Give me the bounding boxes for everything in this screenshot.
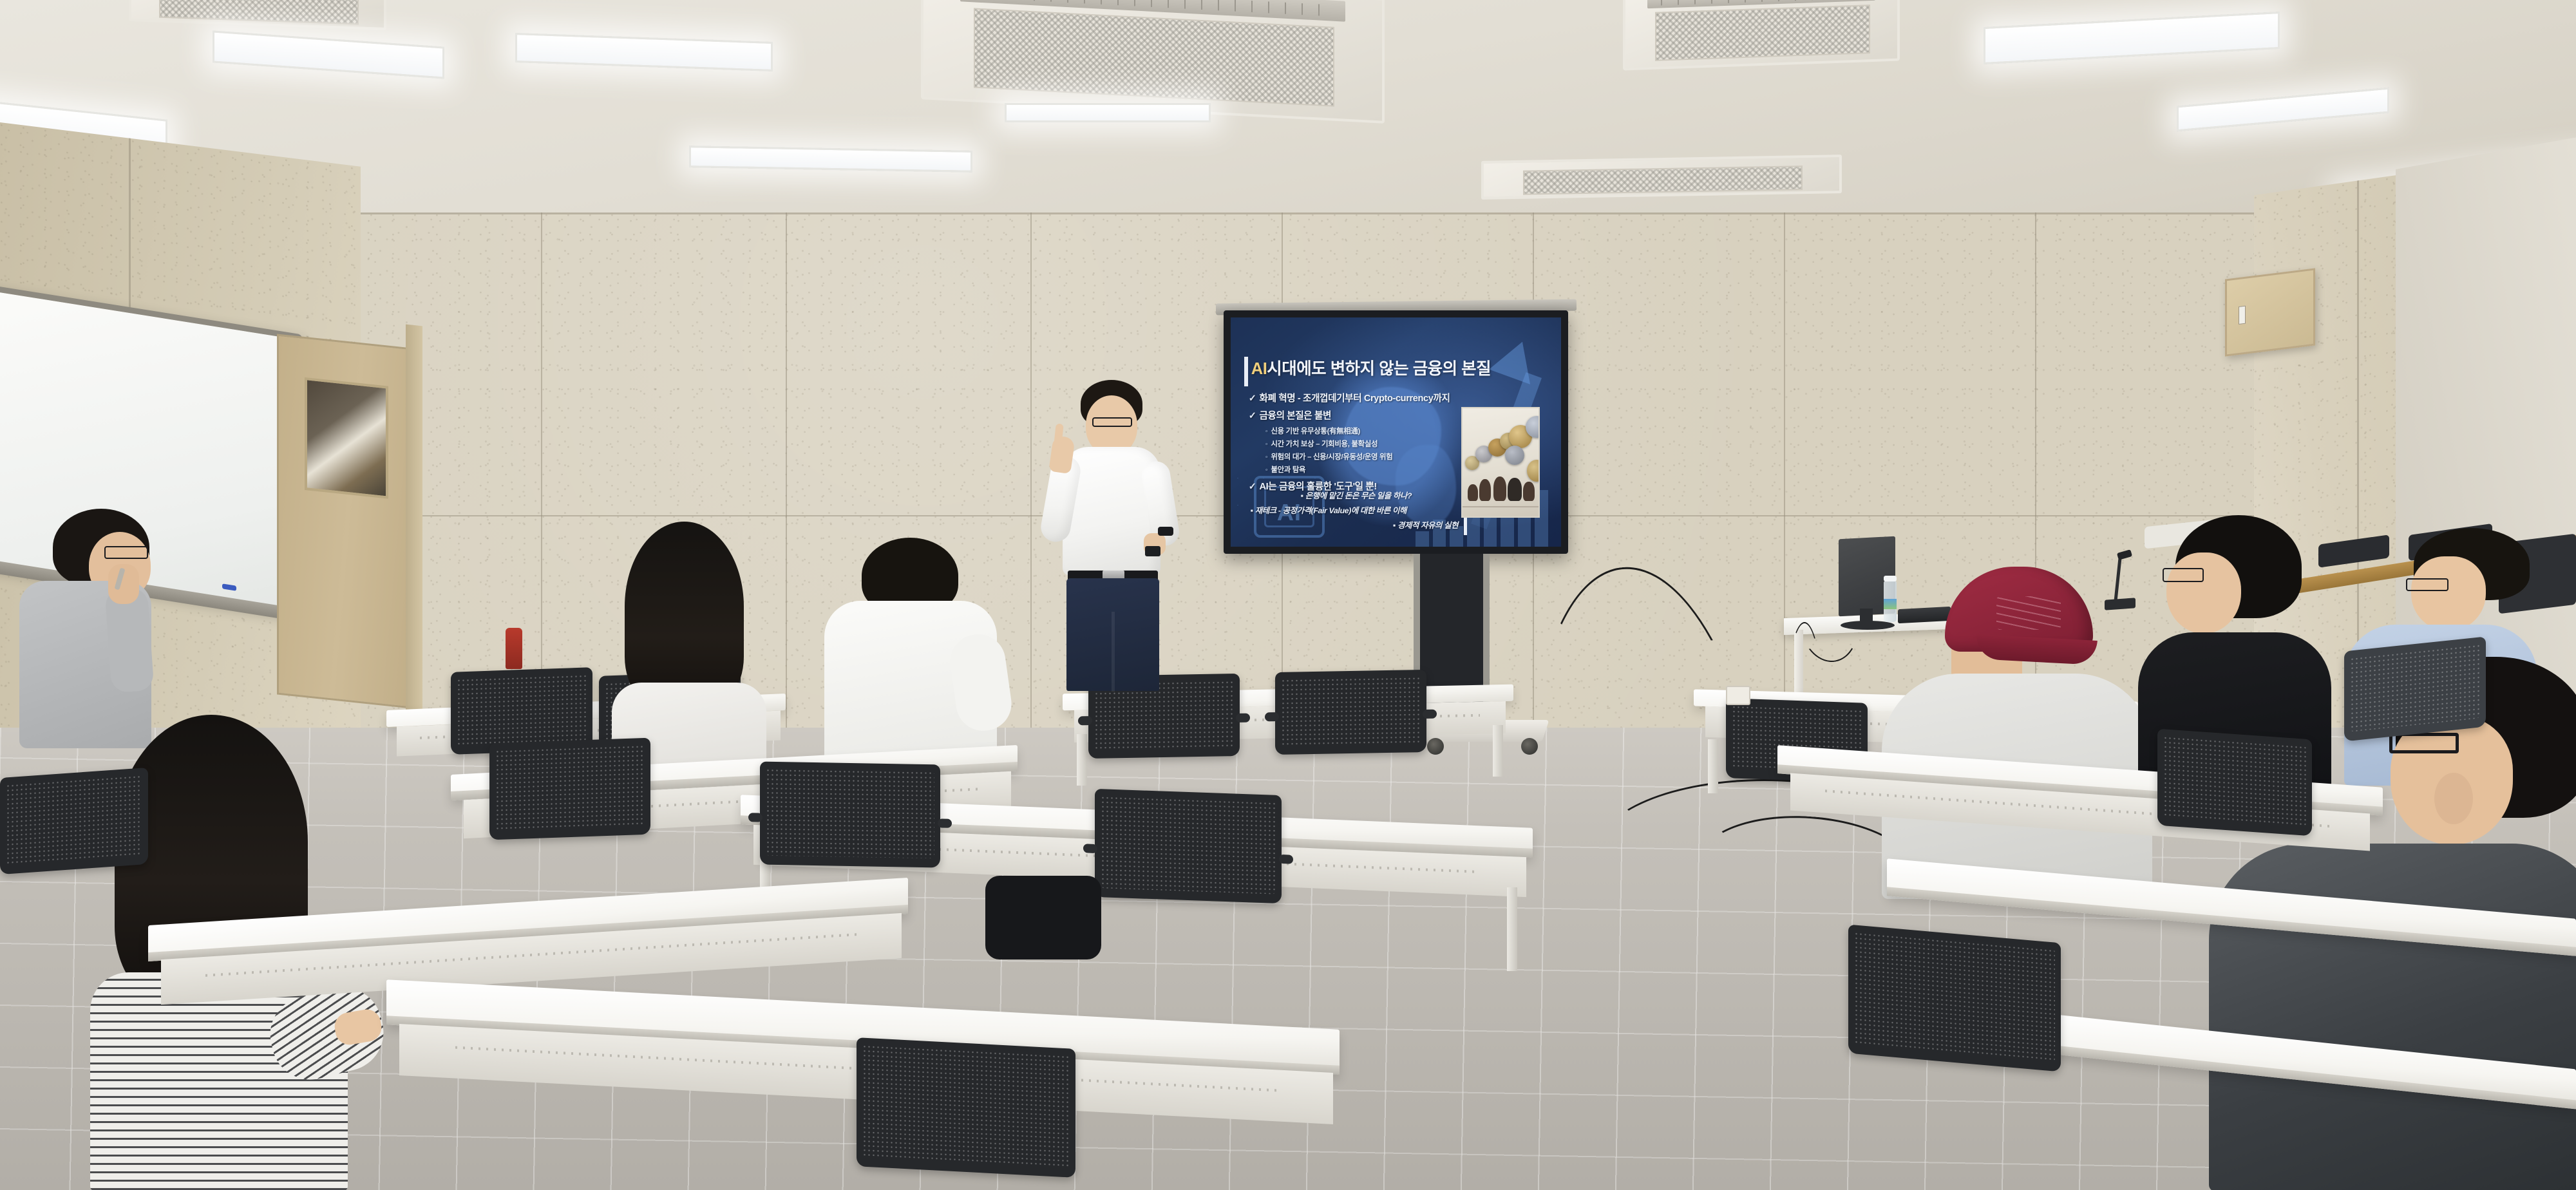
table-leg [1708, 739, 1718, 793]
chair-mesh [1854, 931, 2055, 1062]
chair[interactable] [2344, 636, 2486, 741]
chair-mesh [862, 1044, 1070, 1169]
door-frame [406, 325, 422, 719]
chair-arm [1236, 713, 1250, 722]
coin-icon [1505, 446, 1524, 465]
figure-silhouette [1493, 477, 1506, 501]
chair-backrest [2344, 636, 2486, 741]
slide-bullet: ✓화폐 혁명 - 조개껍데기부터 Crypto-currency까지 [1249, 391, 1548, 404]
glasses-icon [2389, 733, 2459, 753]
bullet-dot-icon: ◦ [1265, 453, 1268, 461]
ceiling-ac-unit [1623, 0, 1900, 71]
chair-arm [938, 818, 952, 827]
chair[interactable] [0, 768, 148, 874]
chair[interactable] [489, 738, 650, 840]
chair-arm [748, 813, 762, 822]
bullet-text: 화폐 혁명 - 조개껍데기부터 Crypto-currency까지 [1260, 393, 1450, 404]
slide-title: AI시대에도 변하지 않는 금융의 본질 [1251, 355, 1541, 379]
footer-text: 재테크 - 공정가격(Fair Value)에 대한 바른 이해 [1255, 506, 1406, 515]
chair-backrest [1095, 789, 1282, 903]
glasses-icon [104, 546, 148, 559]
wristwatch [1158, 527, 1173, 536]
attendee-head [2166, 552, 2241, 634]
ceiling-ac-unit [1481, 155, 1842, 200]
chair-arm [1279, 855, 1293, 864]
bullet-dot-icon: ◦ [1265, 466, 1268, 474]
bottle-label [1884, 599, 1897, 609]
chair-arm [1423, 710, 1437, 719]
water-bottle[interactable] [1884, 581, 1897, 622]
title-accent-bar [1244, 357, 1248, 386]
bottle-cap [1884, 576, 1897, 581]
bullet-square-icon: ▪ [1251, 506, 1253, 515]
chair-backrest [2157, 729, 2312, 836]
chair-backrest [857, 1037, 1075, 1178]
table-leg [1507, 887, 1517, 971]
attendee-ear [2434, 773, 2473, 824]
slide: AI AI시대에도 변하지 않는 금융의 본질 ✓화폐 혁명 - 조개껍데기부터… [1231, 317, 1561, 547]
ethereum-icon [1527, 460, 1540, 482]
slide-footer-list: ▪ 은행에 맡긴 돈은 무슨 일을 하나? ▪ 재테크 - 공정가격(Fair … [1251, 489, 1462, 534]
bullet-square-icon: ▪ [1393, 521, 1396, 530]
classroom-door[interactable] [277, 334, 419, 709]
trouser-crease [1112, 612, 1115, 692]
chair-mesh [2350, 643, 2480, 732]
chair-mesh [495, 744, 645, 831]
bullet-text: 불안과 탐욕 [1271, 466, 1305, 474]
chair[interactable] [2157, 729, 2312, 836]
slide-footer-line: ▪ 재테크 - 공정가격(Fair Value)에 대한 바른 이해 [1251, 504, 1462, 516]
check-icon: ✓ [1249, 393, 1256, 404]
ceiling-light [1005, 103, 1211, 122]
table-leg [1493, 725, 1503, 777]
bullet-text: 금융의 본질은 불변 [1260, 411, 1332, 421]
cap-embroidery [1996, 596, 2061, 630]
stand-caster [1427, 738, 1444, 755]
outlet-icon [1726, 686, 1750, 705]
ceiling-light [515, 33, 773, 71]
display-frame: AI AI시대에도 변하지 않는 금융의 본질 ✓화폐 혁명 - 조개껍데기부터… [1224, 310, 1568, 554]
chair-mesh [457, 674, 587, 745]
chair[interactable] [760, 762, 940, 868]
classroom-photo-scene: AI AI시대에도 변하지 않는 금융의 본질 ✓화폐 혁명 - 조개껍데기부터… [0, 0, 2576, 1190]
chair-backrest [489, 738, 650, 840]
wall-cabinet[interactable] [2225, 268, 2315, 356]
slide-footer-line: ▪ 경제적 자유의 실현 [1251, 519, 1462, 531]
glasses-icon [2163, 568, 2204, 582]
chair-arm [1078, 716, 1092, 725]
check-icon: ✓ [1249, 411, 1256, 421]
bullet-dot-icon: ◦ [1265, 440, 1268, 448]
chair[interactable] [1095, 789, 1282, 903]
figure-silhouette [1508, 478, 1522, 501]
glasses-icon [2406, 578, 2448, 591]
figure-silhouette [1523, 482, 1535, 501]
bullet-dot-icon: ◦ [1265, 428, 1268, 435]
ceiling-light [2177, 88, 2389, 132]
footer-text: 경제적 자유의 실현 [1397, 521, 1458, 530]
footer-text: 은행에 맡긴 돈은 무슨 일을 하나? [1305, 491, 1412, 500]
chair[interactable] [1848, 925, 2061, 1072]
person-attendee-5 [1906, 541, 2157, 902]
chair-mesh [2163, 735, 2306, 827]
chair-mesh [1281, 676, 1421, 746]
attendee-head [2411, 556, 2486, 631]
ac-vent [1647, 0, 1875, 8]
ceiling-light [1984, 12, 2280, 64]
table-leg [1077, 734, 1087, 786]
door-window [305, 377, 388, 499]
chair-backrest [0, 768, 148, 874]
image-ground-line [1463, 506, 1539, 507]
presentation-clicker[interactable] [1145, 546, 1160, 556]
chair[interactable] [857, 1037, 1075, 1178]
slide-title-rest: 시대에도 변하지 않는 금융의 본질 [1267, 360, 1491, 378]
bullet-text: 시간 가치 보상 – 기회비용, 불확실성 [1271, 440, 1378, 448]
crypto-evolution-image [1461, 407, 1540, 518]
chair-arm [1083, 844, 1097, 853]
chair-mesh [766, 768, 934, 859]
chair-arm [1265, 712, 1279, 721]
bullet-square-icon: ▪ [1301, 491, 1303, 500]
presentation-display[interactable]: AI AI시대에도 변하지 않는 금융의 본질 ✓화폐 혁명 - 조개껍데기부터… [1224, 310, 1568, 554]
chair-backrest [1275, 670, 1426, 755]
slide-footer-line: ▪ 은행에 맡긴 돈은 무슨 일을 하나? [1251, 489, 1462, 501]
chair-backrest [1848, 925, 2061, 1072]
chair-mesh [6, 775, 142, 865]
glasses-icon [1092, 417, 1132, 427]
figure-silhouette [1479, 479, 1491, 501]
bag-on-floor [985, 876, 1101, 959]
person-presenter [1030, 380, 1198, 689]
slide-title-accent: AI [1251, 360, 1267, 378]
bullet-text: 위험의 대가 – 신용/시장/유동성/운영 위험 [1271, 453, 1392, 461]
chair-mesh [1101, 795, 1276, 894]
ceiling-ac-unit [129, 0, 386, 30]
figure-silhouette [1468, 484, 1478, 501]
ac-vent [960, 0, 1345, 21]
ceiling-light [689, 146, 972, 173]
chair[interactable] [1275, 670, 1426, 755]
bullet-text: 신용 기반 유무상통(有無相通) [1271, 428, 1360, 435]
fire-extinguisher[interactable] [506, 628, 522, 669]
chair-backrest [760, 762, 940, 868]
ceiling-light [213, 30, 444, 79]
